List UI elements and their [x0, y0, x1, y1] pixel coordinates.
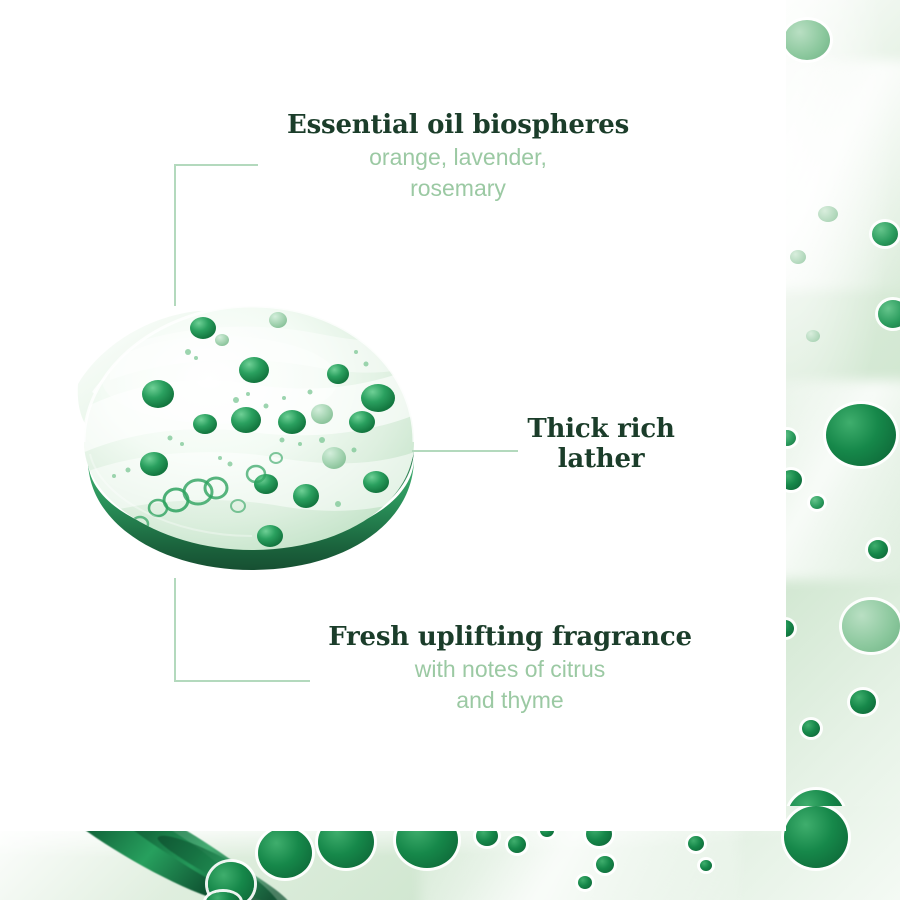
droplet: [878, 300, 900, 328]
callout-biospheres: Essential oil biospheres orange, lavende…: [248, 110, 668, 204]
droplet: [258, 828, 312, 878]
droplet: [790, 250, 806, 264]
callout-biospheres-title: Essential oil biospheres: [248, 110, 668, 140]
droplet: [868, 540, 888, 559]
infographic-canvas: Essential oil biospheres orange, lavende…: [0, 0, 900, 900]
callout-biospheres-sub-line-2: rosemary: [410, 175, 506, 201]
connector-bottom-vertical: [174, 578, 176, 682]
callout-fragrance: Fresh uplifting fragrance with notes of …: [300, 622, 720, 716]
gel-droplet-illustration: [70, 292, 430, 582]
droplet: [826, 404, 896, 466]
droplet: [806, 330, 820, 342]
droplet: [872, 222, 898, 246]
droplet: [688, 836, 704, 851]
droplet: [784, 806, 848, 868]
connector-bottom-horizontal: [174, 680, 310, 682]
droplet: [810, 496, 824, 509]
callout-lather-title-line-2: lather: [558, 444, 645, 474]
callout-biospheres-subtitle: orange, lavender, rosemary: [248, 142, 668, 204]
droplet: [578, 876, 592, 889]
callout-fragrance-subtitle: with notes of citrus and thyme: [300, 654, 720, 716]
droplet: [850, 690, 876, 714]
connector-middle-horizontal: [412, 450, 518, 452]
droplet: [596, 856, 614, 873]
droplet: [802, 720, 820, 737]
callout-lather-title-line-1: Thick rich: [527, 414, 674, 444]
callout-fragrance-sub-line-1: with notes of citrus: [415, 656, 605, 682]
callout-lather-title: Thick rich lather: [506, 414, 696, 474]
callout-lather: Thick rich lather: [506, 414, 696, 474]
connector-top-vertical: [174, 164, 176, 306]
droplet: [842, 600, 900, 652]
callout-biospheres-sub-line-1: orange, lavender,: [369, 144, 547, 170]
callout-fragrance-sub-line-2: and thyme: [456, 687, 563, 713]
droplet: [818, 206, 838, 222]
droplet: [784, 20, 830, 60]
droplet: [700, 860, 712, 871]
connector-top-horizontal: [174, 164, 258, 166]
droplet: [508, 836, 526, 853]
callout-fragrance-title: Fresh uplifting fragrance: [300, 622, 720, 652]
